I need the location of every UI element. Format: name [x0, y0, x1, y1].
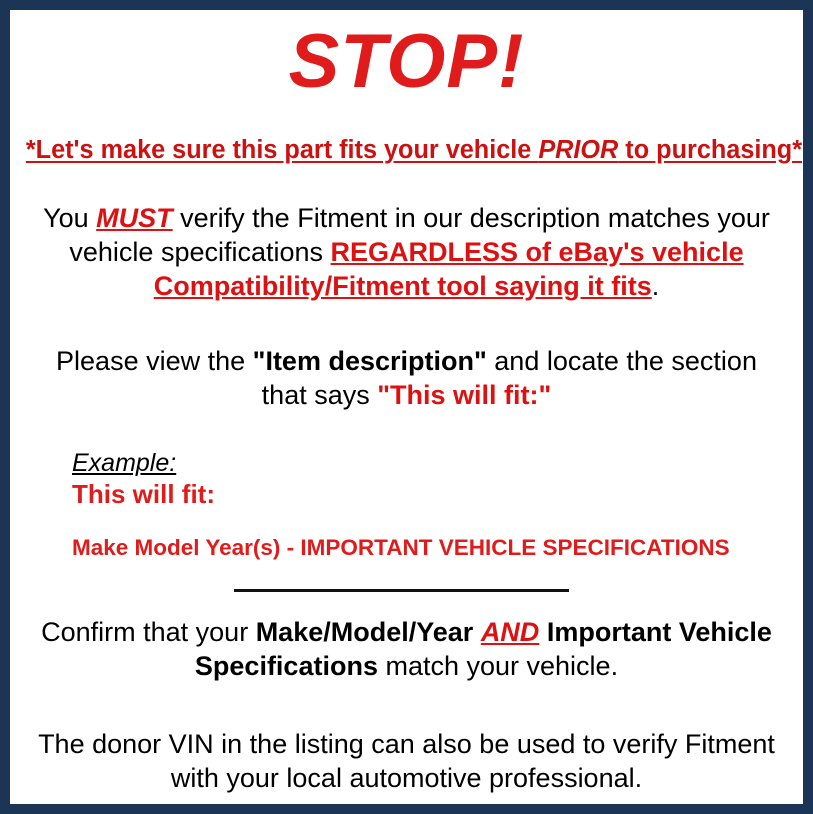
item-description-emphasis: "Item description": [253, 346, 487, 376]
paragraph-donor-vin: The donor VIN in the listing can also be…: [22, 728, 791, 796]
example-label: Example:: [72, 449, 791, 478]
confirm-seg-4: match your vehicle.: [378, 651, 618, 681]
paragraph-must-verify: You MUST verify the Fitment in our descr…: [22, 202, 791, 303]
example-section: Example: This will fit: Make Model Year(…: [22, 449, 791, 562]
tagline-suffix: to purchasing*: [618, 136, 802, 164]
tagline-banner: *Let's make sure this part fits your veh…: [26, 136, 787, 164]
tagline-emphasis: PRIOR: [538, 136, 618, 164]
must-seg-1: You: [43, 203, 96, 233]
and-emphasis: AND: [481, 617, 540, 647]
section-divider: [234, 589, 569, 592]
this-will-fit-emphasis: "This will fit:": [377, 380, 551, 410]
example-spec-line: Make Model Year(s) - IMPORTANT VEHICLE S…: [72, 535, 791, 561]
paragraph-confirm: Confirm that your Make/Model/Year AND Im…: [22, 616, 791, 684]
page-title: STOP!: [22, 24, 791, 100]
divider-row: [22, 589, 791, 592]
must-emphasis: MUST: [96, 203, 173, 233]
desc-seg-1: Please view the: [56, 346, 253, 376]
confirm-seg-1: Confirm that your: [41, 617, 256, 647]
make-model-year-emphasis: Make/Model/Year: [256, 617, 474, 647]
example-fit-heading: This will fit:: [72, 480, 791, 510]
confirm-seg-2: [473, 617, 481, 647]
paragraph-item-description: Please view the "Item description" and l…: [22, 345, 791, 413]
notice-content: STOP! *Let's make sure this part fits yo…: [10, 24, 803, 814]
fitment-notice-card: STOP! *Let's make sure this part fits yo…: [0, 0, 813, 814]
tagline-prefix: *Let's make sure this part fits your veh…: [26, 136, 538, 164]
confirm-seg-3: [539, 617, 547, 647]
must-seg-3: .: [652, 271, 660, 301]
